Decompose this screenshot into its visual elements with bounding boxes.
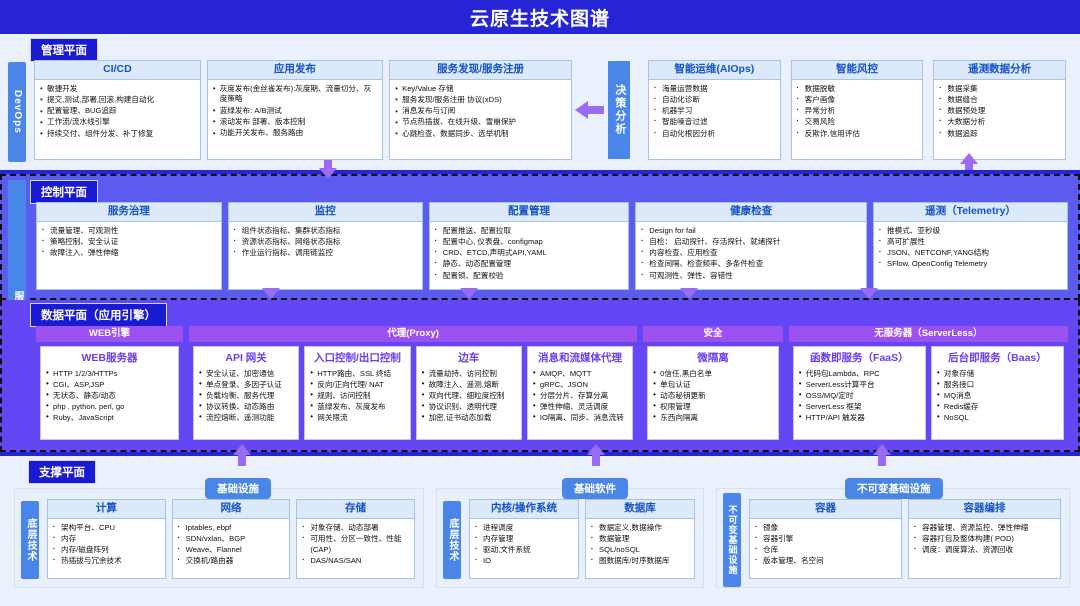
card-title: 智能运维(AIOps): [649, 61, 780, 80]
list-item: 对象存储: [937, 368, 1058, 379]
data-group: 代理(Proxy)API 网关安全认证、加密通信单点登录、多因子认证负载均衡、服…: [189, 326, 637, 444]
card-body: 容器管理、资源监控、弹性伸缩容器打包及整体构建( POD)调度：调度算法、资源回…: [909, 519, 1060, 578]
data-card-body: 0信任,黑白名单单包认证动态秘钥更新权限管理东西向隔离: [648, 367, 778, 427]
list-item: 敏捷开发: [40, 84, 195, 95]
data-card-title: WEB服务器: [41, 347, 178, 367]
data-card: API 网关安全认证、加密通信单点登录、多因子认证负载均衡、服务代理协议转换、动…: [193, 346, 299, 440]
data-group-body: API 网关安全认证、加密通信单点登录、多因子认证负载均衡、服务代理协议转换、动…: [189, 342, 637, 444]
list-item: 服务发现/服务注册 协议(xDS): [395, 95, 566, 106]
list-item: 自检： 启动探针、存活探针、就绪探针: [641, 237, 861, 248]
list-item: 持续交付、组件分发、补丁修复: [40, 129, 195, 140]
list-item: 自动化根因分析: [654, 129, 775, 140]
list-item: 热插拔与冗余技术: [53, 556, 160, 567]
data-card-title: 入口控制/出口控制: [305, 347, 409, 367]
card: 智能运维(AIOps)海量运营数据自动化诊断机器学习智能噪音过滤自动化根因分析: [648, 60, 781, 160]
list-item: 海量运营数据: [654, 84, 775, 95]
card-title: 内核/操作系统: [470, 500, 578, 519]
card-body: 镜像容器引擎仓库版本管理、名空间: [750, 519, 901, 578]
list-item: IO: [475, 556, 573, 567]
data-card: 微隔离0信任,黑白名单单包认证动态秘钥更新权限管理东西向隔离: [647, 346, 779, 440]
card-body: 流量管理、可观测性策略控制、安全认证故障注入、弹性伸缩: [37, 222, 221, 289]
data-group-body: 微隔离0信任,黑白名单单包认证动态秘钥更新权限管理东西向隔离: [643, 342, 783, 444]
data-card-body: HTTP路由、SSL 终结反向/正向代理/ NAT规则、访问控制蓝绿发布、灰度发…: [305, 367, 409, 427]
card: 数据库数据定义,数据操作数据管理SQL/noSQL图数据库/时序数据库: [585, 499, 695, 579]
data-group-header: 安全: [643, 326, 783, 342]
list-item: 架构平台、CPU: [53, 523, 160, 534]
management-left-cards: CI/CD敏捷开发提交,测试,部署,回滚,构建自动化配置管理、BUG追踪工作流/…: [34, 60, 572, 160]
card-body: 海量运营数据自动化诊断机器学习智能噪音过滤自动化根因分析: [649, 80, 780, 159]
data-card-body: 安全认证、加密通信单点登录、多因子认证负载均衡、服务代理协议转换、动态路由流控熔…: [194, 367, 298, 427]
list-item: 作业运行指标、调用链监控: [234, 248, 417, 259]
card: 智能风控数据脱敏客户画像异常分析交易风险反欺诈,信用评估: [791, 60, 924, 160]
list-item: 消息发布与订阅: [395, 106, 566, 117]
data-card-body: 流量劫持、访问控制故障注入、遥测,熔断双向代理、细粒度控制协议识别、透明代理加密…: [417, 367, 521, 427]
list-item: 检查间隔、检查频率、多条件检查: [641, 259, 861, 270]
management-right-cards: 智能运维(AIOps)海量运营数据自动化诊断机器学习智能噪音过滤自动化根因分析智…: [648, 60, 1070, 160]
list-item: 交换机/路由器: [178, 556, 285, 567]
list-item: 大数据分析: [939, 117, 1060, 128]
data-group: 安全微隔离0信任,黑白名单单包认证动态秘钥更新权限管理东西向隔离: [643, 326, 783, 444]
list-item: 加密,证书动态加载: [422, 412, 516, 423]
list-item: 蓝绿发布: A/B测试: [213, 106, 377, 117]
card-title: 计算: [48, 500, 165, 519]
support-plane: 支撑平面 基础设施 底层技术 计算架构平台、CPU内存内存/磁盘阵列热插拔与冗余…: [0, 456, 1080, 606]
arrow-ctrl-to-data-3: [680, 288, 698, 299]
data-card-title: 消息和流媒体代理: [528, 347, 632, 367]
card-title: 遥测数据分析: [934, 61, 1065, 80]
pill-immutable-infra: 不可变基础设施: [845, 478, 943, 499]
arrow-soft-up: [587, 444, 605, 455]
card-title: 容器: [750, 500, 901, 519]
list-item: 数据采集: [939, 84, 1060, 95]
card-body: 进程调度内存管理驱动,文件系统IO: [470, 519, 578, 578]
list-item: 0信任,黑白名单: [653, 368, 773, 379]
list-item: 数据定义,数据操作: [591, 523, 689, 534]
card-title: 存储: [297, 500, 414, 519]
list-item: 数据脱敏: [797, 84, 918, 95]
list-item: 代码包Lambda、RPC: [799, 368, 920, 379]
data-card: 函数即服务（FaaS）代码包Lambda、RPCServerLess计算平台OS…: [793, 346, 926, 440]
data-card-body: HTTP 1/2/3/HTTPsCGI、ASP,JSP无状态、静态/动态php …: [41, 367, 178, 427]
list-item: 提交,测试,部署,回滚,构建自动化: [40, 95, 195, 106]
list-item: Design for fail: [641, 226, 861, 237]
plane-label-data: 数据平面（应用引擎）: [30, 303, 167, 327]
data-group: WEB引擎WEB服务器HTTP 1/2/3/HTTPsCGI、ASP,JSP无状…: [36, 326, 183, 444]
list-item: NoSQL: [937, 412, 1058, 423]
list-item: 容器引擎: [755, 534, 896, 545]
list-item: HTTP 1/2/3/HTTPs: [46, 368, 173, 379]
card-title: 网络: [173, 500, 290, 519]
data-card-title: 函数即服务（FaaS）: [794, 347, 925, 367]
list-item: 滚动发布 部署、版本控制: [213, 117, 377, 128]
list-item: 图数据库/时序数据库: [591, 556, 689, 567]
list-item: ServerLess计算平台: [799, 379, 920, 390]
data-card: 消息和流媒体代理AMQP、MQTTgRPC、JSON分层分片、存算分离弹性伸缩、…: [527, 346, 633, 440]
list-item: 权限管理: [653, 401, 773, 412]
data-card: 入口控制/出口控制HTTP路由、SSL 终结反向/正向代理/ NAT规则、访问控…: [304, 346, 410, 440]
list-item: SDN/vxlan、BGP: [178, 534, 285, 545]
list-item: 配置中心, 仪表盘、configmap: [435, 237, 624, 248]
sidebar-tab-base-tech-2: 底层技术: [443, 501, 461, 579]
card-body: 推模式、亚秒级高可扩展性JSON、NETCONF,YANG结构SFlow, Op…: [874, 222, 1067, 289]
list-item: 弹性伸缩、灵活调度: [533, 401, 627, 412]
list-item: 数据管理: [591, 534, 689, 545]
list-item: php , python, perl, go: [46, 401, 173, 412]
card: CI/CD敏捷开发提交,测试,部署,回滚,构建自动化配置管理、BUG追踪工作流/…: [34, 60, 201, 160]
list-item: 配置管理、BUG追踪: [40, 106, 195, 117]
support-group-infrastructure: 底层技术 计算架构平台、CPU内存内存/磁盘阵列热插拔与冗余技术网络Iptabl…: [14, 488, 424, 588]
list-item: 双向代理、细粒度控制: [422, 390, 516, 401]
data-card-body: 代码包Lambda、RPCServerLess计算平台OSS/MQ/定时Serv…: [794, 367, 925, 427]
list-item: 安全认证、加密通信: [199, 368, 293, 379]
card: 健康检查Design for fail自检： 启动探针、存活探针、就绪探针内容检…: [635, 202, 867, 290]
arrow-immutable-up: [873, 444, 891, 455]
decision-analysis-label: 决策分析: [612, 84, 626, 136]
list-item: 协议识别、透明代理: [422, 401, 516, 412]
card-body: Design for fail自检： 启动探针、存活探针、就绪探针内容检查、应用…: [636, 222, 866, 289]
card-body: 组件状态指标、集群状态指标资源状态指标、网络状态指标作业运行指标、调用链监控: [229, 222, 422, 289]
card-title: 健康检查: [636, 203, 866, 222]
sidebar-tab-base-tech-1: 底层技术: [21, 501, 39, 579]
list-item: IO隔离、同步、消息流转: [533, 412, 627, 423]
list-item: 东西向隔离: [653, 412, 773, 423]
management-plane: 管理平面 DevOps CI/CD敏捷开发提交,测试,部署,回滚,构建自动化配置…: [0, 34, 1080, 170]
list-item: 配置锁、配置校验: [435, 271, 624, 282]
card: 网络Iptables, ebpfSDN/vxlan、BGPWeave、Flann…: [172, 499, 291, 579]
card: 计算架构平台、CPU内存内存/磁盘阵列热插拔与冗余技术: [47, 499, 166, 579]
card-body: Key/Value 存储服务发现/服务注册 协议(xDS)消息发布与订阅节点热插…: [390, 80, 571, 159]
list-item: 故障注入、遥测,熔断: [422, 379, 516, 390]
data-card-body: 对象存储服务接口MQ消息Redis缓存NoSQL: [932, 367, 1063, 427]
list-item: 流控熔断、遥测功能: [199, 412, 293, 423]
card-title: 遥测（Telemetry）: [874, 203, 1067, 222]
list-item: DAS/NAS/SAN: [302, 556, 409, 567]
list-item: HTTP路由、SSL 终结: [310, 368, 404, 379]
list-item: AMQP、MQTT: [533, 368, 627, 379]
card: 内核/操作系统进程调度内存管理驱动,文件系统IO: [469, 499, 579, 579]
list-item: Redis缓存: [937, 401, 1058, 412]
card-title: 配置管理: [430, 203, 629, 222]
list-item: 仓库: [755, 545, 896, 556]
card-title: 数据库: [586, 500, 694, 519]
card-title: 智能风控: [792, 61, 923, 80]
data-card-title: 后台即服务（Baas）: [932, 347, 1063, 367]
list-item: 节点热插拔、在线升级、雪崩保护: [395, 117, 566, 128]
list-item: 进程调度: [475, 523, 573, 534]
card-title: CI/CD: [35, 61, 200, 80]
list-item: 工作流/流水线引擎: [40, 117, 195, 128]
list-item: 版本管理、名空间: [755, 556, 896, 567]
data-card-body: AMQP、MQTTgRPC、JSON分层分片、存算分离弹性伸缩、灵活调度IO隔离…: [528, 367, 632, 427]
pill-infrastructure: 基础设施: [205, 478, 271, 499]
card-body: 架构平台、CPU内存内存/磁盘阵列热插拔与冗余技术: [48, 519, 165, 578]
arrow-ctrl-to-data-4: [860, 288, 878, 299]
list-item: 客户画像: [797, 95, 918, 106]
card-body: Iptables, ebpfSDN/vxlan、BGPWeave、Flannel…: [173, 519, 290, 578]
card: 容器编排容器管理、资源监控、弹性伸缩容器打包及整体构建( POD)调度：调度算法…: [908, 499, 1061, 579]
list-item: 服务接口: [937, 379, 1058, 390]
pill-base-software: 基础软件: [562, 478, 628, 499]
arrow-ctrl-to-data-2: [460, 288, 478, 299]
list-item: 交易风险: [797, 117, 918, 128]
card: 遥测数据分析数据采集数据缝合数据预处理大数据分析数据追踪: [933, 60, 1066, 160]
decision-analysis-tab[interactable]: 决策分析: [608, 61, 630, 159]
list-item: CRD、ETCD,声明式API,YAML: [435, 248, 624, 259]
list-item: OSS/MQ/定时: [799, 390, 920, 401]
card-body: 对象存储、动态部署可用性、分区一致性、性能(CAP)DAS/NAS/SAN: [297, 519, 414, 578]
list-item: 灰度发布(金丝雀发布):灰度期、流量切分、灰度策略: [213, 84, 377, 106]
card: 遥测（Telemetry）推模式、亚秒级高可扩展性JSON、NETCONF,YA…: [873, 202, 1068, 290]
list-item: 流量管理、可观测性: [42, 226, 216, 237]
list-item: 负载均衡、服务代理: [199, 390, 293, 401]
arrow-mgmt-down: [319, 168, 337, 179]
card-title: 服务发现/服务注册: [390, 61, 571, 80]
list-item: 镜像: [755, 523, 896, 534]
data-card: WEB服务器HTTP 1/2/3/HTTPsCGI、ASP,JSP无状态、静态/…: [40, 346, 179, 440]
card: 服务治理流量管理、可观测性策略控制、安全认证故障注入、弹性伸缩: [36, 202, 222, 290]
page-title-bar: 云原生技术图谱: [0, 0, 1080, 34]
list-item: 推模式、亚秒级: [879, 226, 1062, 237]
card-body: 灰度发布(金丝雀发布):灰度期、流量切分、灰度策略蓝绿发布: A/B测试滚动发布…: [208, 80, 382, 159]
data-card-title: 边车: [417, 347, 521, 367]
list-item: gRPC、JSON: [533, 379, 627, 390]
data-group-body: 函数即服务（FaaS）代码包Lambda、RPCServerLess计算平台OS…: [789, 342, 1068, 444]
list-item: 内容检查、应用检查: [641, 248, 861, 259]
card-body: 敏捷开发提交,测试,部署,回滚,构建自动化配置管理、BUG追踪工作流/流水线引擎…: [35, 80, 200, 159]
control-plane-cards: 服务治理流量管理、可观测性策略控制、安全认证故障注入、弹性伸缩监控组件状态指标、…: [36, 202, 1068, 290]
card-body: 数据脱敏客户画像异常分析交易风险反欺诈,信用评估: [792, 80, 923, 159]
list-item: 内存/磁盘阵列: [53, 545, 160, 556]
list-item: 功能开关发布、服务路由: [213, 128, 377, 139]
arrow-infra-up: [233, 444, 251, 455]
data-group-body: WEB服务器HTTP 1/2/3/HTTPsCGI、ASP,JSP无状态、静态/…: [36, 342, 183, 444]
list-item: 反欺诈,信用评估: [797, 129, 918, 140]
list-item: JSON、NETCONF,YANG结构: [879, 248, 1062, 259]
list-item: Weave、Flannel: [178, 545, 285, 556]
tech-landscape-page: 云原生技术图谱 管理平面 DevOps CI/CD敏捷开发提交,测试,部署,回滚…: [0, 0, 1080, 606]
list-item: 异常分析: [797, 106, 918, 117]
list-item: 数据缝合: [939, 95, 1060, 106]
card: 存储对象存储、动态部署可用性、分区一致性、性能(CAP)DAS/NAS/SAN: [296, 499, 415, 579]
list-item: 单包认证: [653, 379, 773, 390]
data-plane-groups: WEB引擎WEB服务器HTTP 1/2/3/HTTPsCGI、ASP,JSP无状…: [36, 326, 1068, 444]
data-group-header: 无服务器（ServerLess）: [789, 326, 1068, 342]
sidebar-tab-devops: DevOps: [8, 62, 26, 162]
list-item: ServerLess 框架: [799, 401, 920, 412]
list-item: HTTP/API 触发器: [799, 412, 920, 423]
arrow-ctrl-to-data-1: [262, 288, 280, 299]
list-item: SFlow, OpenConfig Telemetry: [879, 259, 1062, 270]
list-item: 反向/正向代理/ NAT: [310, 379, 404, 390]
list-item: 智能噪音过滤: [654, 117, 775, 128]
card: 配置管理配置推送、配置拉取配置中心, 仪表盘、configmapCRD、ETCD…: [429, 202, 630, 290]
list-item: 配置推送、配置拉取: [435, 226, 624, 237]
support-group-immutable-infra: 不可变基础设施 容器镜像容器引擎仓库版本管理、名空间容器编排容器管理、资源监控、…: [716, 488, 1070, 588]
card-title: 服务治理: [37, 203, 221, 222]
list-item: 数据预处理: [939, 106, 1060, 117]
list-item: 数据追踪: [939, 129, 1060, 140]
list-item: Ruby、JavaScript: [46, 412, 173, 423]
data-card: 后台即服务（Baas）对象存储服务接口MQ消息Redis缓存NoSQL: [931, 346, 1064, 440]
list-item: CGI、ASP,JSP: [46, 379, 173, 390]
list-item: 规则、访问控制: [310, 390, 404, 401]
arrow-left-head: [575, 101, 588, 119]
list-item: 机器学习: [654, 106, 775, 117]
data-group-header: 代理(Proxy): [189, 326, 637, 342]
plane-label-management: 管理平面: [30, 38, 98, 62]
list-item: 蓝绿发布、灰度发布: [310, 401, 404, 412]
list-item: 高可扩展性: [879, 237, 1062, 248]
list-item: SQL/noSQL: [591, 545, 689, 556]
arrow-left-stem: [588, 106, 604, 114]
list-item: 静态、动态配置管理: [435, 259, 624, 270]
arrow-right-up: [960, 153, 978, 164]
card-body: 数据采集数据缝合数据预处理大数据分析数据追踪: [934, 80, 1065, 159]
card-title: 监控: [229, 203, 422, 222]
list-item: 单点登录、多因子认证: [199, 379, 293, 390]
list-item: 资源状态指标、网络状态指标: [234, 237, 417, 248]
card: 监控组件状态指标、集群状态指标资源状态指标、网络状态指标作业运行指标、调用链监控: [228, 202, 423, 290]
card: 容器镜像容器引擎仓库版本管理、名空间: [749, 499, 902, 579]
list-item: 心跳检查、数据同步、选举机制: [395, 129, 566, 140]
list-item: 内存管理: [475, 534, 573, 545]
list-item: 流量劫持、访问控制: [422, 368, 516, 379]
list-item: 无状态、静态/动态: [46, 390, 173, 401]
data-plane: 数据平面（应用引擎） WEB引擎WEB服务器HTTP 1/2/3/HTTPsCG…: [0, 300, 1080, 452]
list-item: 自动化诊断: [654, 95, 775, 106]
data-card: 边车流量劫持、访问控制故障注入、遥测,熔断双向代理、细粒度控制协议识别、透明代理…: [416, 346, 522, 440]
sidebar-tab-immutable: 不可变基础设施: [723, 493, 741, 587]
list-item: MQ消息: [937, 390, 1058, 401]
list-item: 容器打包及整体构建( POD): [914, 534, 1055, 545]
page-title: 云原生技术图谱: [470, 4, 610, 31]
list-item: 策略控制、安全认证: [42, 237, 216, 248]
support-group-base-software: 底层技术 内核/操作系统进程调度内存管理驱动,文件系统IO数据库数据定义,数据操…: [436, 488, 704, 588]
list-item: 容器管理、资源监控、弹性伸缩: [914, 523, 1055, 534]
list-item: 可用性、分区一致性、性能(CAP): [302, 534, 409, 556]
list-item: 内存: [53, 534, 160, 545]
card: 应用发布灰度发布(金丝雀发布):灰度期、流量切分、灰度策略蓝绿发布: A/B测试…: [207, 60, 383, 160]
list-item: 网关限流: [310, 412, 404, 423]
list-item: 调度：调度算法、资源回收: [914, 545, 1055, 556]
data-group: 无服务器（ServerLess）函数即服务（FaaS）代码包Lambda、RPC…: [789, 326, 1068, 444]
list-item: 可观测性、弹性、容错性: [641, 271, 861, 282]
list-item: 故障注入、弹性伸缩: [42, 248, 216, 259]
list-item: 协议转换、动态路由: [199, 401, 293, 412]
list-item: 动态秘钥更新: [653, 390, 773, 401]
card: 服务发现/服务注册Key/Value 存储服务发现/服务注册 协议(xDS)消息…: [389, 60, 572, 160]
list-item: 组件状态指标、集群状态指标: [234, 226, 417, 237]
list-item: Key/Value 存储: [395, 84, 566, 95]
plane-label-control: 控制平面: [30, 180, 98, 204]
list-item: 分层分片、存算分离: [533, 390, 627, 401]
list-item: 对象存储、动态部署: [302, 523, 409, 534]
card-title: 应用发布: [208, 61, 382, 80]
card-body: 数据定义,数据操作数据管理SQL/noSQL图数据库/时序数据库: [586, 519, 694, 578]
data-card-title: 微隔离: [648, 347, 778, 367]
card-title: 容器编排: [909, 500, 1060, 519]
list-item: Iptables, ebpf: [178, 523, 285, 534]
list-item: 驱动,文件系统: [475, 545, 573, 556]
data-group-header: WEB引擎: [36, 326, 183, 342]
card-body: 配置推送、配置拉取配置中心, 仪表盘、configmapCRD、ETCD,声明式…: [430, 222, 629, 289]
control-plane: 控制平面 服务治理流量管理、可观测性策略控制、安全认证故障注入、弹性伸缩监控组件…: [0, 174, 1080, 300]
plane-label-support: 支撑平面: [28, 460, 96, 484]
data-card-title: API 网关: [194, 347, 298, 367]
